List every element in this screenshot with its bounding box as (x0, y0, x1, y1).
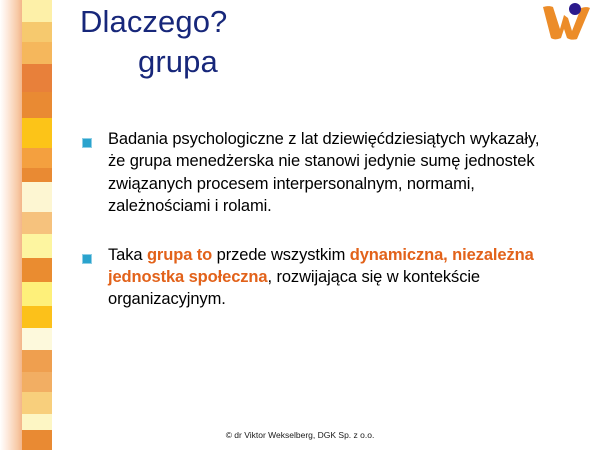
list-item-text: Taka grupa to przede wszystkim dynamiczn… (108, 244, 548, 311)
ribbon-block (22, 212, 52, 234)
list-item-text: Badania psychologiczne z lat dziewięćdzi… (108, 128, 548, 218)
wekselberg-w-logo (540, 2, 592, 42)
ribbon-block (22, 148, 52, 168)
ribbon-block (22, 282, 52, 306)
ribbon-blocks (22, 0, 52, 450)
bullet-list: Badania psychologiczne z lat dziewięćdzi… (78, 128, 548, 337)
ribbon-block (22, 118, 52, 148)
title-line-1: Dlaczego? (80, 2, 520, 42)
ribbon-block (22, 350, 52, 372)
logo-w-mark (543, 6, 590, 40)
highlighted-text: grupa to (147, 246, 212, 264)
ribbon-block (22, 372, 52, 392)
body-text: Badania psychologiczne z lat dziewięćdzi… (108, 130, 539, 215)
decorative-ribbon (0, 0, 52, 450)
ribbon-block (22, 64, 52, 92)
square-bullet-icon (82, 138, 92, 148)
page-title: Dlaczego? grupa (80, 2, 520, 82)
ribbon-block (22, 0, 52, 22)
ribbon-block (22, 22, 52, 42)
ribbon-block (22, 182, 52, 212)
footer-copyright: © dr Viktor Wekselberg, DGK Sp. z o.o. (0, 430, 600, 440)
logo-dot-icon (569, 3, 581, 15)
square-bullet-icon (82, 254, 92, 264)
ribbon-block (22, 306, 52, 328)
ribbon-block (22, 392, 52, 414)
ribbon-block (22, 328, 52, 350)
ribbon-block (22, 42, 52, 64)
list-item: Badania psychologiczne z lat dziewięćdzi… (78, 128, 548, 218)
ribbon-block (22, 92, 52, 118)
ribbon-block (22, 234, 52, 258)
list-item: Taka grupa to przede wszystkim dynamiczn… (78, 244, 548, 311)
title-line-2: grupa (80, 42, 520, 82)
ribbon-block (22, 258, 52, 282)
ribbon-block (22, 414, 52, 430)
slide-canvas: Dlaczego? grupa Badania psychologiczne z… (0, 0, 600, 450)
ribbon-block (22, 168, 52, 182)
body-text: przede wszystkim (212, 246, 350, 264)
logo-svg (540, 2, 592, 42)
body-text: Taka (108, 246, 147, 264)
